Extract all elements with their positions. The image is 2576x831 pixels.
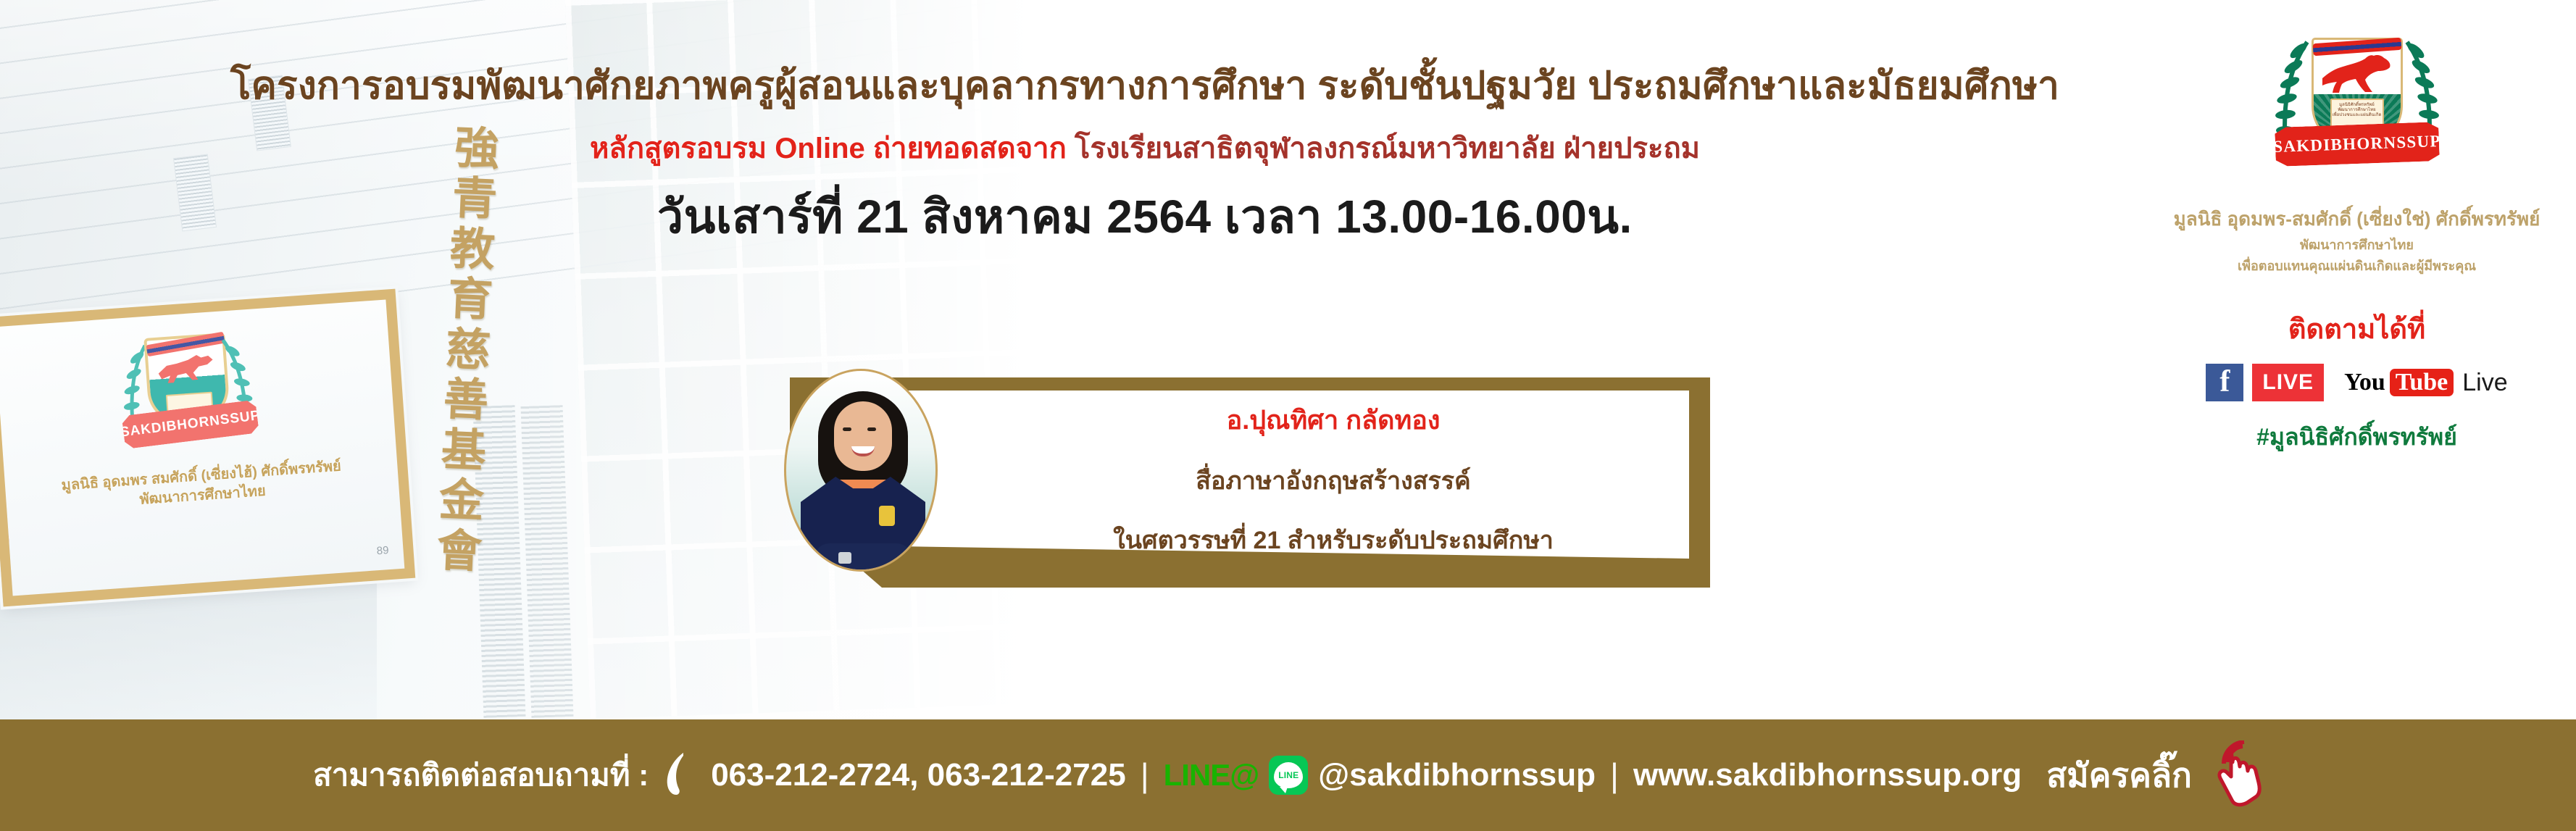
line-icon[interactable]: LINE — [1269, 756, 1308, 795]
youtube-you-text: You — [2344, 369, 2385, 396]
house-number: 89 — [376, 544, 389, 557]
phone-icon — [662, 751, 695, 800]
foundation-line3: เพื่อตอบแทนคุณแผ่นดินเกิดและผู้มีพระคุณ — [2145, 255, 2569, 276]
portrait-watch-icon — [838, 552, 851, 564]
website-url[interactable]: www.sakdibhornssup.org — [1633, 757, 2022, 793]
portrait-eye-right — [867, 427, 876, 431]
speaker-portrait — [784, 369, 938, 572]
subtitle: หลักสูตรอบรม Online ถ่ายทอดสดจาก โรงเรีย… — [217, 125, 2072, 171]
divider: | — [1610, 756, 1619, 795]
click-hand-icon[interactable] — [2202, 740, 2263, 811]
line-handle[interactable]: @sakdibhornssup — [1318, 757, 1596, 793]
speaker-card-body: อ.ปุณทิศา กลัดทอง สื่อภาษาอังกฤษสร้างสรร… — [1007, 399, 1659, 559]
foundation-name-block: มูลนิธิ อุดมพร-สมศักดิ์ (เซี่ยงใช่) ศักด… — [2145, 204, 2569, 276]
portrait-lapel-badge-icon — [879, 506, 895, 526]
youtube-tube-badge: Tube — [2390, 369, 2454, 396]
event-datetime: วันเสาร์ที่ 21 สิงหาคม 2564 เวลา 13.00-1… — [217, 180, 2072, 254]
line-badge-text: LINE — [1278, 770, 1299, 780]
speaker-topic-line1: สื่อภาษาอังกฤษสร้างสรรค์ — [1007, 461, 1659, 500]
portrait-face — [834, 401, 892, 471]
building-sign-text: มูลนิธิ อุดมพร สมศักดิ์ (เซี่ยงไฮ้) ศักด… — [4, 453, 399, 519]
running-horse-icon — [2320, 54, 2394, 94]
speaker-name: อ.ปุณทิศา กลัดทอง — [1007, 399, 1659, 440]
facebook-live-badge[interactable]: LIVE — [2252, 364, 2324, 401]
facebook-icon[interactable]: f — [2206, 364, 2243, 401]
line-at-label: LINE@ — [1164, 758, 1259, 793]
contact-phones[interactable]: 063-212-2724, 063-212-2725 — [711, 757, 1125, 793]
logo-ribbon: SAKDIBHORNSSUP — [2275, 122, 2440, 167]
foundation-line1: มูลนิธิ อุดมพร-สมศักดิ์ (เซี่ยงใช่) ศักด… — [2145, 204, 2569, 234]
promo-banner: SAKDIBHORNSSUP มูลนิธิ อุดมพร สมศักดิ์ (… — [0, 0, 2576, 831]
portrait-eye-left — [843, 427, 851, 431]
foundation-logo-crest: มูลนิธิศักดิ์พรทรัพย์ พัฒนาการศึกษาไทย เ… — [2267, 19, 2448, 200]
foundation-line2: พัฒนาการศึกษาไทย — [2145, 234, 2569, 255]
contact-bar: สามารถติดต่อสอบถามที่ : 063-212-2724, 06… — [0, 719, 2576, 831]
hashtag: #มูลนิธิศักดิ์พรทรัพย์ — [2145, 419, 2569, 456]
portrait-arms — [814, 543, 912, 572]
follow-heading: ติดตามได้ที่ — [2145, 306, 2569, 351]
running-horse-icon — [156, 351, 217, 385]
brand-column: มูลนิธิศักดิ์พรทรัพย์ พัฒนาการศึกษาไทย เ… — [2145, 13, 2569, 456]
subtitle-dark-part: โรงเรียนสาธิตจุฬาลงกรณ์มหาวิทยาลัย ฝ่ายป… — [1075, 133, 1700, 164]
youtube-live-label: Live — [2462, 369, 2507, 397]
building-sign-crest-icon: SAKDIBHORNSSUP — [103, 317, 272, 466]
page-title: โครงการอบรมพัฒนาศักยภาพครูผู้สอนและบุคลา… — [217, 55, 2072, 116]
contact-label: สามารถติดต่อสอบถามที่ : — [313, 751, 649, 799]
register-cta-label[interactable]: สมัครคลิ๊ก — [2046, 749, 2192, 802]
building-sign-panel: SAKDIBHORNSSUP มูลนิธิ อุดมพร สมศักดิ์ (… — [0, 289, 415, 607]
youtube-live-link[interactable]: You Tube Live — [2344, 369, 2508, 397]
subtitle-red-part: หลักสูตรอบรม Online ถ่ายทอดสดจาก — [590, 133, 1067, 164]
logo-ribbon-text: SAKDIBHORNSSUP — [2272, 132, 2440, 156]
speaker-card: อ.ปุณทิศา กลัดทอง สื่อภาษาอังกฤษสร้างสรร… — [790, 377, 1710, 588]
divider: | — [1141, 756, 1149, 795]
speaker-topic-line2: ในศตวรรษที่ 21 สำหรับระดับประถมศึกษา — [1007, 520, 1659, 559]
book-line3: เพื่อปวงชนและแผ่นดินเกิด — [2332, 113, 2383, 118]
social-links: f LIVE You Tube Live — [2145, 364, 2569, 401]
